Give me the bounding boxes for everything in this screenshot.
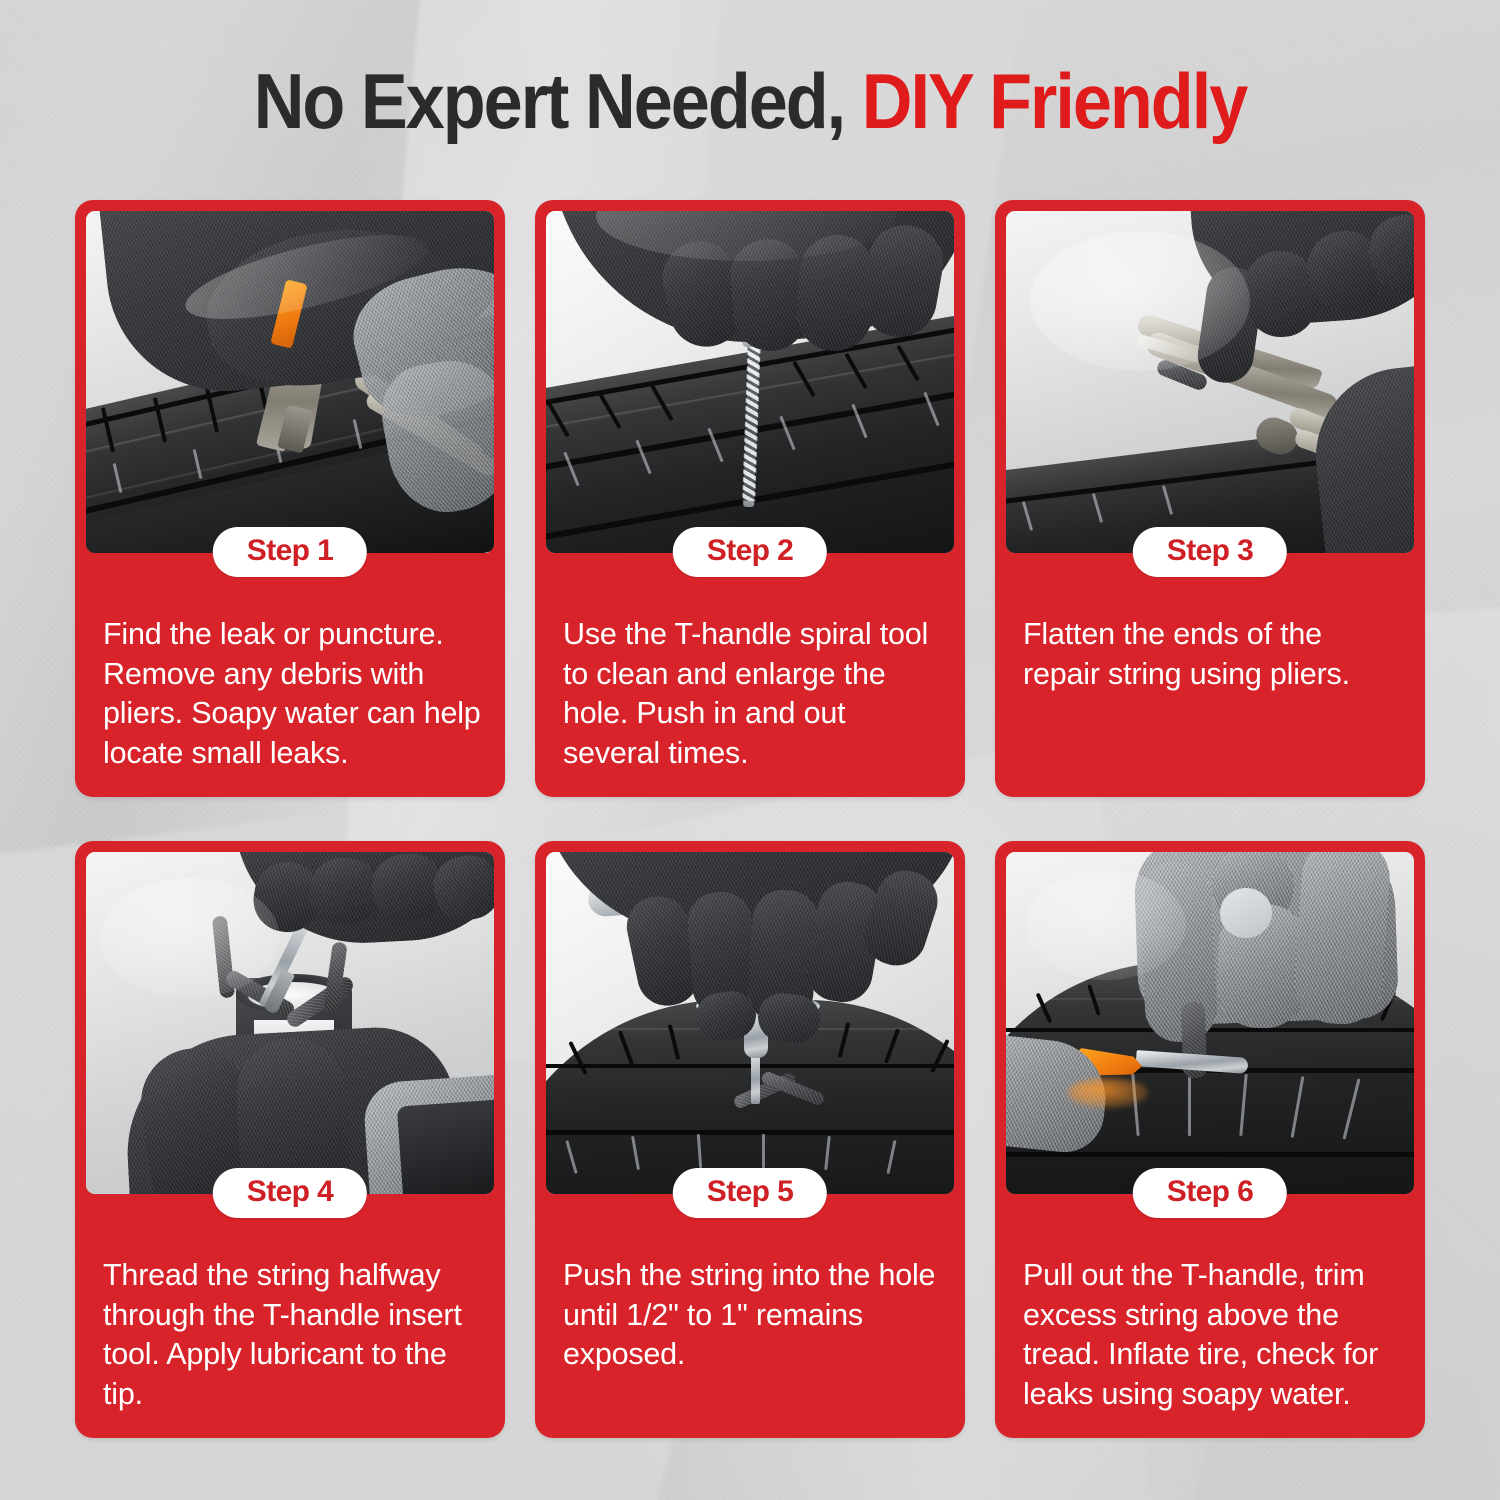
step-photo-5 <box>546 852 954 1194</box>
step-text-2: Use the T-handle spiral tool to clean an… <box>563 615 941 774</box>
step-badge-4: Step 4 <box>213 1168 367 1218</box>
step-badge-2: Step 2 <box>673 527 827 577</box>
step-body-1: Find the leak or puncture. Remove any de… <box>75 553 505 797</box>
step-body-3: Flatten the ends of the repair string us… <box>995 553 1425 797</box>
step-photo-2 <box>546 211 954 553</box>
step-text-5: Push the string into the hole until 1/2"… <box>563 1256 941 1375</box>
step-photo-3 <box>1006 211 1414 553</box>
step-text-3: Flatten the ends of the repair string us… <box>1023 615 1401 694</box>
page-title: No Expert Needed, DIY Friendly <box>75 62 1425 140</box>
page-title-part-red: DIY Friendly <box>862 57 1247 145</box>
step-card-3: Step 3 Flatten the ends of the repair st… <box>995 200 1425 797</box>
step-card-4: Step 4 Thread the string halfway through… <box>75 841 505 1438</box>
steps-grid: Step 1 Find the leak or puncture. Remove… <box>75 200 1425 1438</box>
step-photo-1 <box>86 211 494 553</box>
step-body-6: Pull out the T-handle, trim excess strin… <box>995 1194 1425 1438</box>
step-text-1: Find the leak or puncture. Remove any de… <box>103 615 481 774</box>
step-text-6: Pull out the T-handle, trim excess strin… <box>1023 1256 1401 1415</box>
step-body-2: Use the T-handle spiral tool to clean an… <box>535 553 965 797</box>
step-badge-6: Step 6 <box>1133 1168 1287 1218</box>
step-photo-4 <box>86 852 494 1194</box>
step-card-2: Step 2 Use the T-handle spiral tool to c… <box>535 200 965 797</box>
step-badge-5: Step 5 <box>673 1168 827 1218</box>
step-card-5: Step 5 Push the string into the hole unt… <box>535 841 965 1438</box>
step-card-1: Step 1 Find the leak or puncture. Remove… <box>75 200 505 797</box>
infographic-page: No Expert Needed, DIY Friendly <box>0 0 1500 1500</box>
step-badge-3: Step 3 <box>1133 527 1287 577</box>
step-body-4: Thread the string halfway through the T-… <box>75 1194 505 1438</box>
step-body-5: Push the string into the hole until 1/2"… <box>535 1194 965 1438</box>
step-badge-1: Step 1 <box>213 527 367 577</box>
step-photo-6 <box>1006 852 1414 1194</box>
step-card-6: Step 6 Pull out the T-handle, trim exces… <box>995 841 1425 1438</box>
step-text-4: Thread the string halfway through the T-… <box>103 1256 481 1415</box>
page-title-part-dark: No Expert Needed, <box>254 57 844 145</box>
